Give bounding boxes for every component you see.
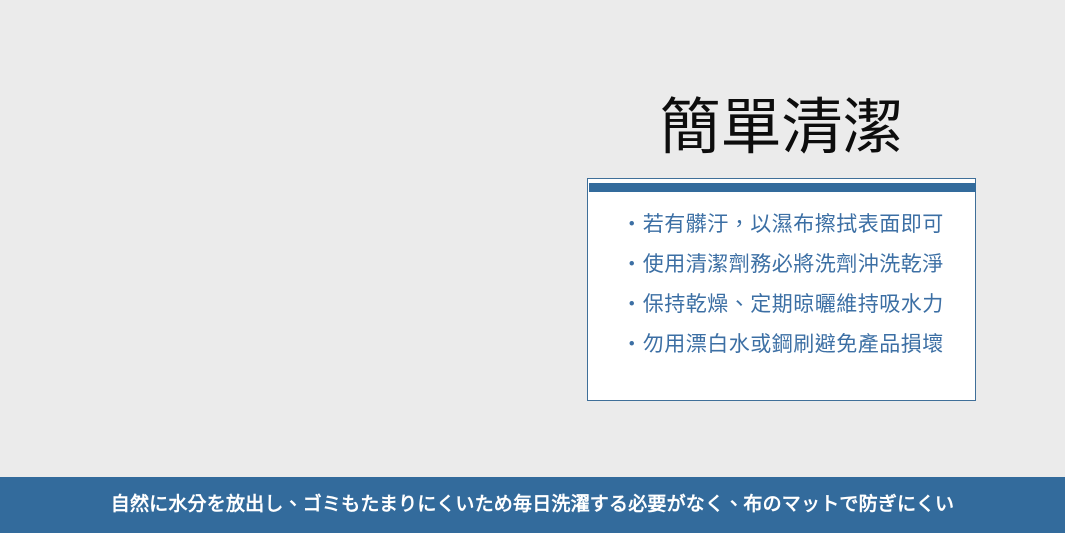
list-item: ・勿用漂白水或鋼刷避免產品損壞	[588, 325, 977, 365]
care-instructions-box: ・若有髒汙，以濕布擦拭表面即可 ・使用清潔劑務必將洗劑沖洗乾淨 ・保持乾燥、定期…	[587, 178, 976, 401]
page-title: 簡單清潔	[587, 86, 976, 170]
list-item: ・保持乾燥、定期晾曬維持吸水力	[588, 285, 977, 325]
page-title-text: 簡單清潔	[659, 98, 903, 159]
care-instructions-list: ・若有髒汙，以濕布擦拭表面即可 ・使用清潔劑務必將洗劑沖洗乾淨 ・保持乾燥、定期…	[588, 205, 977, 365]
list-item-label: 若有髒汙，以濕布擦拭表面即可	[643, 213, 944, 236]
bullet-icon: ・	[621, 293, 643, 316]
list-item-label: 使用清潔劑務必將洗劑沖洗乾淨	[643, 253, 944, 276]
bottom-banner-text: 自然に水分を放出し、ゴミもたまりにくいため毎日洗濯する必要がなく、布のマットで防…	[111, 494, 954, 517]
list-item: ・使用清潔劑務必將洗劑沖洗乾淨	[588, 245, 977, 285]
slide-canvas: 簡單清潔 ・若有髒汙，以濕布擦拭表面即可 ・使用清潔劑務必將洗劑沖洗乾淨 ・保持…	[0, 0, 1065, 533]
accent-bar	[589, 183, 976, 192]
bullet-icon: ・	[621, 253, 643, 276]
bullet-icon: ・	[621, 213, 643, 236]
bullet-icon: ・	[621, 333, 643, 356]
list-item-label: 保持乾燥、定期晾曬維持吸水力	[643, 293, 944, 316]
list-item: ・若有髒汙，以濕布擦拭表面即可	[588, 205, 977, 245]
bottom-banner: 自然に水分を放出し、ゴミもたまりにくいため毎日洗濯する必要がなく、布のマットで防…	[0, 477, 1065, 533]
list-item-label: 勿用漂白水或鋼刷避免產品損壞	[643, 333, 944, 356]
